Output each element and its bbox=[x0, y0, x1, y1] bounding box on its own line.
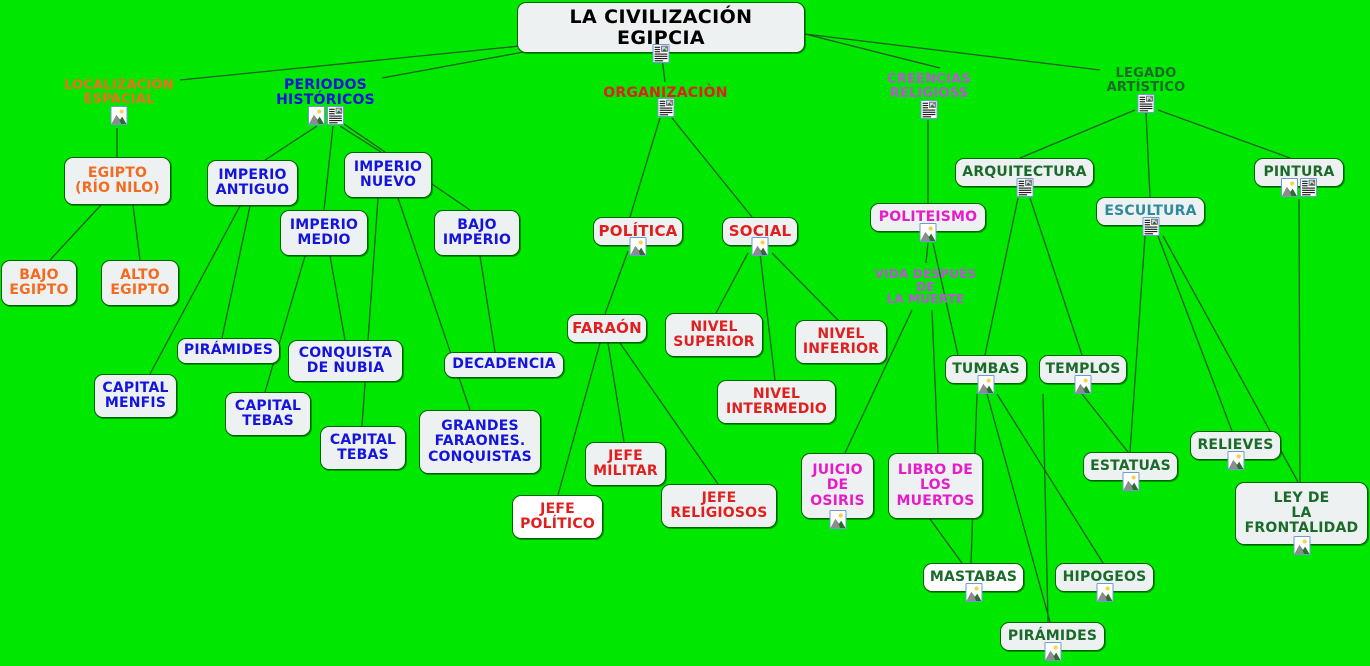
edge-social-to-nivel-superior bbox=[716, 253, 748, 313]
node-label: CAPITAL TEBAS bbox=[330, 433, 396, 463]
node-relieves[interactable]: RELIEVES bbox=[1190, 431, 1281, 460]
node-icon-group bbox=[653, 44, 670, 63]
node-grandes-faraones[interactable]: GRANDES FARAONES. CONQUISTAS bbox=[419, 410, 541, 474]
edge-titulo-to-creencias bbox=[805, 34, 940, 68]
note-icon[interactable] bbox=[1138, 94, 1155, 113]
node-label: NIVEL INTERMEDIO bbox=[726, 387, 827, 417]
edge-libro-muertos-to-mastabas bbox=[930, 519, 962, 563]
image-icon[interactable] bbox=[1075, 375, 1092, 394]
node-label: PIRÁMIDES bbox=[184, 343, 273, 358]
image-icon[interactable] bbox=[1044, 642, 1061, 661]
image-icon[interactable] bbox=[965, 583, 982, 602]
node-legado[interactable]: LEGADO ARTÍSTICO bbox=[1096, 62, 1196, 100]
edge-periodos-to-imperio-antiguo bbox=[265, 126, 317, 160]
edge-arquitectura-to-templos bbox=[1030, 198, 1082, 355]
node-escultura[interactable]: ESCULTURA bbox=[1096, 197, 1205, 226]
node-icon-group bbox=[1142, 217, 1159, 236]
image-icon[interactable] bbox=[829, 510, 846, 529]
node-jefe-militar[interactable]: JEFE MILITAR bbox=[585, 442, 666, 486]
node-tumbas[interactable]: TUMBAS bbox=[945, 355, 1027, 384]
node-social[interactable]: SOCIAL bbox=[722, 217, 798, 246]
image-icon[interactable] bbox=[1227, 451, 1244, 470]
node-bajo-imperio[interactable]: BAJO IMPERIO bbox=[434, 210, 520, 256]
node-label: VIDA DESPUÉS DE LA MUERTE bbox=[875, 268, 977, 307]
node-estatuas[interactable]: ESTATUAS bbox=[1083, 452, 1178, 481]
node-label: FARAÓN bbox=[572, 320, 642, 336]
edge-organizacion-to-politica bbox=[630, 118, 660, 217]
note-icon[interactable] bbox=[1016, 178, 1033, 197]
node-alto-egipto[interactable]: ALTO EGIPTO bbox=[101, 260, 179, 306]
node-icon-group bbox=[111, 106, 128, 125]
node-icon-group bbox=[1281, 178, 1317, 197]
node-piramides-2[interactable]: PIRÁMIDES bbox=[1000, 622, 1105, 651]
node-label: IMPERIO ANTIGUO bbox=[216, 168, 289, 198]
edge-periodos-to-imperio-nuevo bbox=[340, 126, 381, 152]
node-label: LEGADO ARTÍSTICO bbox=[1107, 67, 1186, 95]
node-periodos[interactable]: PERIODOS HISTÓRICOS bbox=[268, 74, 383, 112]
node-capital-tebas-2[interactable]: CAPITAL TEBAS bbox=[320, 426, 406, 470]
node-nivel-intermedio[interactable]: NIVEL INTERMEDIO bbox=[717, 380, 836, 424]
node-label: CREENCIAS RELIGIOSS bbox=[887, 73, 971, 101]
node-titulo[interactable]: LA CIVILIZACIÓN EGIPCIA bbox=[517, 2, 805, 53]
node-icon-group bbox=[1044, 642, 1061, 661]
node-icon-group bbox=[1227, 451, 1244, 470]
node-hipogeos[interactable]: HIPOGEOS bbox=[1055, 563, 1154, 592]
image-icon[interactable] bbox=[1122, 472, 1139, 491]
node-label: JEFE MILITAR bbox=[593, 449, 658, 479]
node-label: DECADENCIA bbox=[452, 357, 556, 372]
node-capital-tebas-1[interactable]: CAPITAL TEBAS bbox=[225, 392, 311, 436]
node-label: JEFE POLÍTICO bbox=[520, 502, 595, 532]
node-faraon[interactable]: FARAÓN bbox=[567, 314, 647, 343]
node-label: CONQUISTA DE NUBIA bbox=[299, 346, 393, 376]
node-jefe-politico[interactable]: JEFE POLÍTICO bbox=[512, 495, 603, 539]
node-politeismo[interactable]: POLITEISMO bbox=[870, 203, 986, 232]
node-icon-group bbox=[829, 510, 846, 529]
note-icon[interactable] bbox=[653, 44, 670, 63]
edge-libro-muertos-to-piramides-2 bbox=[1043, 394, 1048, 622]
image-icon[interactable] bbox=[920, 223, 937, 242]
edge-legado-to-pintura bbox=[1158, 110, 1290, 158]
node-egipto-nilo[interactable]: EGIPTO (RÍO NILO) bbox=[64, 157, 171, 205]
node-imperio-nuevo[interactable]: IMPERIO NUEVO bbox=[344, 152, 432, 198]
note-icon[interactable] bbox=[327, 106, 344, 125]
edge-templos-to-estatuas bbox=[1082, 394, 1128, 452]
edge-pintura-to-ley-frontalidad bbox=[1299, 199, 1300, 482]
node-imperio-antiguo[interactable]: IMPERIO ANTIGUO bbox=[207, 160, 298, 206]
node-icon-group bbox=[1096, 583, 1113, 602]
node-icon-group bbox=[1293, 536, 1310, 555]
node-juicio-osiris[interactable]: JUICIO DE OSIRIS bbox=[801, 453, 874, 519]
node-icon-group bbox=[630, 237, 647, 256]
node-label: CAPITAL TEBAS bbox=[235, 399, 301, 429]
node-capital-menfis[interactable]: CAPITAL MENFIS bbox=[94, 374, 177, 418]
node-decadencia[interactable]: DECADENCIA bbox=[444, 352, 564, 378]
node-pintura[interactable]: PINTURA bbox=[1254, 158, 1344, 187]
image-icon[interactable] bbox=[978, 375, 995, 394]
node-icon-group bbox=[920, 223, 937, 242]
node-icon-group bbox=[1138, 94, 1155, 113]
node-icon-group bbox=[657, 98, 674, 117]
node-label: NIVEL SUPERIOR bbox=[673, 320, 755, 350]
node-icon-group bbox=[978, 375, 995, 394]
edge-imperio-medio-to-conquista-nubia bbox=[330, 256, 345, 340]
edge-politica-to-faraon bbox=[605, 251, 628, 314]
node-bajo-egipto[interactable]: BAJO EGIPTO bbox=[1, 260, 77, 306]
node-label: LEY DE LA FRONTALIDAD bbox=[1245, 491, 1359, 536]
edge-legado-to-escultura bbox=[1146, 112, 1150, 197]
node-vida-despues[interactable]: VIDA DESPUÉS DE LA MUERTE bbox=[869, 263, 982, 311]
edge-escultura-to-relieves bbox=[1158, 236, 1232, 431]
edge-escultura-to-estatuas bbox=[1130, 236, 1145, 452]
edge-social-to-nivel-intermedio bbox=[760, 253, 775, 380]
image-icon[interactable] bbox=[1096, 583, 1113, 602]
node-label: JEFE RELIGIOSOS bbox=[670, 491, 767, 521]
node-label: PERIODOS HISTÓRICOS bbox=[276, 78, 375, 108]
node-label: IMPERIO MEDIO bbox=[290, 218, 358, 248]
node-icon-group bbox=[308, 106, 344, 125]
concept-map-canvas: LA CIVILIZACIÓN EGIPCIALOCALIZACIÓN ESPA… bbox=[0, 0, 1370, 666]
note-icon[interactable] bbox=[1300, 178, 1317, 197]
node-label: BAJO EGIPTO bbox=[9, 268, 68, 298]
node-label: LOCALIZACIÓN ESPACIAL bbox=[64, 79, 174, 107]
node-nivel-inferior[interactable]: NIVEL INFERIOR bbox=[795, 320, 887, 364]
node-label: GRANDES FARAONES. CONQUISTAS bbox=[428, 419, 532, 464]
edge-periodos-to-imperio-medio bbox=[324, 126, 333, 210]
node-icon-group bbox=[1122, 472, 1139, 491]
node-icon-group bbox=[1016, 178, 1033, 197]
node-localizacion[interactable]: LOCALIZACIÓN ESPACIAL bbox=[56, 74, 182, 112]
node-label: JUICIO DE OSIRIS bbox=[810, 463, 864, 508]
edge-egipto-nilo-to-alto-egipto bbox=[133, 205, 140, 260]
node-icon-group bbox=[921, 100, 938, 119]
node-piramides-1[interactable]: PIRÁMIDES bbox=[177, 338, 280, 364]
node-arquitectura[interactable]: ARQUITECTURA bbox=[955, 158, 1094, 187]
node-label: BAJO IMPERIO bbox=[443, 218, 511, 248]
node-mastabas[interactable]: MASTABAS bbox=[923, 563, 1024, 592]
edge-arquitectura-to-tumbas bbox=[985, 198, 1018, 355]
node-politica[interactable]: POLÍTICA bbox=[593, 217, 683, 246]
edge-bajo-imperio-to-decadencia bbox=[480, 256, 495, 352]
node-ley-frontalidad[interactable]: LEY DE LA FRONTALIDAD bbox=[1235, 482, 1368, 545]
node-label: EGIPTO (RÍO NILO) bbox=[75, 166, 160, 196]
note-icon[interactable] bbox=[921, 100, 938, 119]
node-organizacion[interactable]: ORGANIZACIÒN bbox=[598, 83, 733, 104]
node-icon-group bbox=[1075, 375, 1092, 394]
edge-imperio-antiguo-to-piramides-1 bbox=[222, 206, 250, 338]
edge-egipto-nilo-to-bajo-egipto bbox=[50, 205, 101, 260]
node-label: LA CIVILIZACIÓN EGIPCIA bbox=[527, 7, 795, 48]
edge-social-to-nivel-inferior bbox=[772, 253, 838, 320]
node-label: CAPITAL MENFIS bbox=[102, 381, 168, 411]
node-conquista-nubia[interactable]: CONQUISTA DE NUBIA bbox=[288, 340, 403, 382]
node-icon-group bbox=[752, 237, 769, 256]
image-icon[interactable] bbox=[111, 106, 128, 125]
node-templos[interactable]: TEMPLOS bbox=[1039, 355, 1127, 384]
node-icon-group bbox=[965, 583, 982, 602]
node-label: ALTO EGIPTO bbox=[110, 268, 169, 298]
image-icon[interactable] bbox=[630, 237, 647, 256]
edge-titulo-to-legado bbox=[805, 34, 1100, 70]
note-icon[interactable] bbox=[657, 98, 674, 117]
node-creencias[interactable]: CREENCIAS RELIGIOSS bbox=[874, 68, 984, 106]
edge-faraon-to-jefe-militar bbox=[608, 343, 624, 442]
image-icon[interactable] bbox=[308, 106, 325, 125]
edge-organizacion-to-social bbox=[672, 118, 752, 217]
image-icon[interactable] bbox=[752, 237, 769, 256]
edge-politeismo-to-vida-despues bbox=[926, 243, 928, 263]
image-icon[interactable] bbox=[1293, 536, 1310, 555]
note-icon[interactable] bbox=[1142, 217, 1159, 236]
node-libro-muertos[interactable]: LIBRO DE LOS MUERTOS bbox=[888, 453, 983, 519]
image-icon[interactable] bbox=[1281, 178, 1298, 197]
node-label: LIBRO DE LOS MUERTOS bbox=[897, 463, 975, 508]
node-nivel-superior[interactable]: NIVEL SUPERIOR bbox=[665, 313, 763, 357]
node-label: NIVEL INFERIOR bbox=[803, 327, 879, 357]
node-imperio-medio[interactable]: IMPERIO MEDIO bbox=[280, 210, 368, 256]
edge-legado-to-arquitectura bbox=[1020, 110, 1135, 158]
edge-vida-despues-to-libro-muertos bbox=[932, 310, 938, 453]
node-label: IMPERIO NUEVO bbox=[354, 160, 422, 190]
node-jefe-religiosos[interactable]: JEFE RELIGIOSOS bbox=[661, 484, 777, 528]
